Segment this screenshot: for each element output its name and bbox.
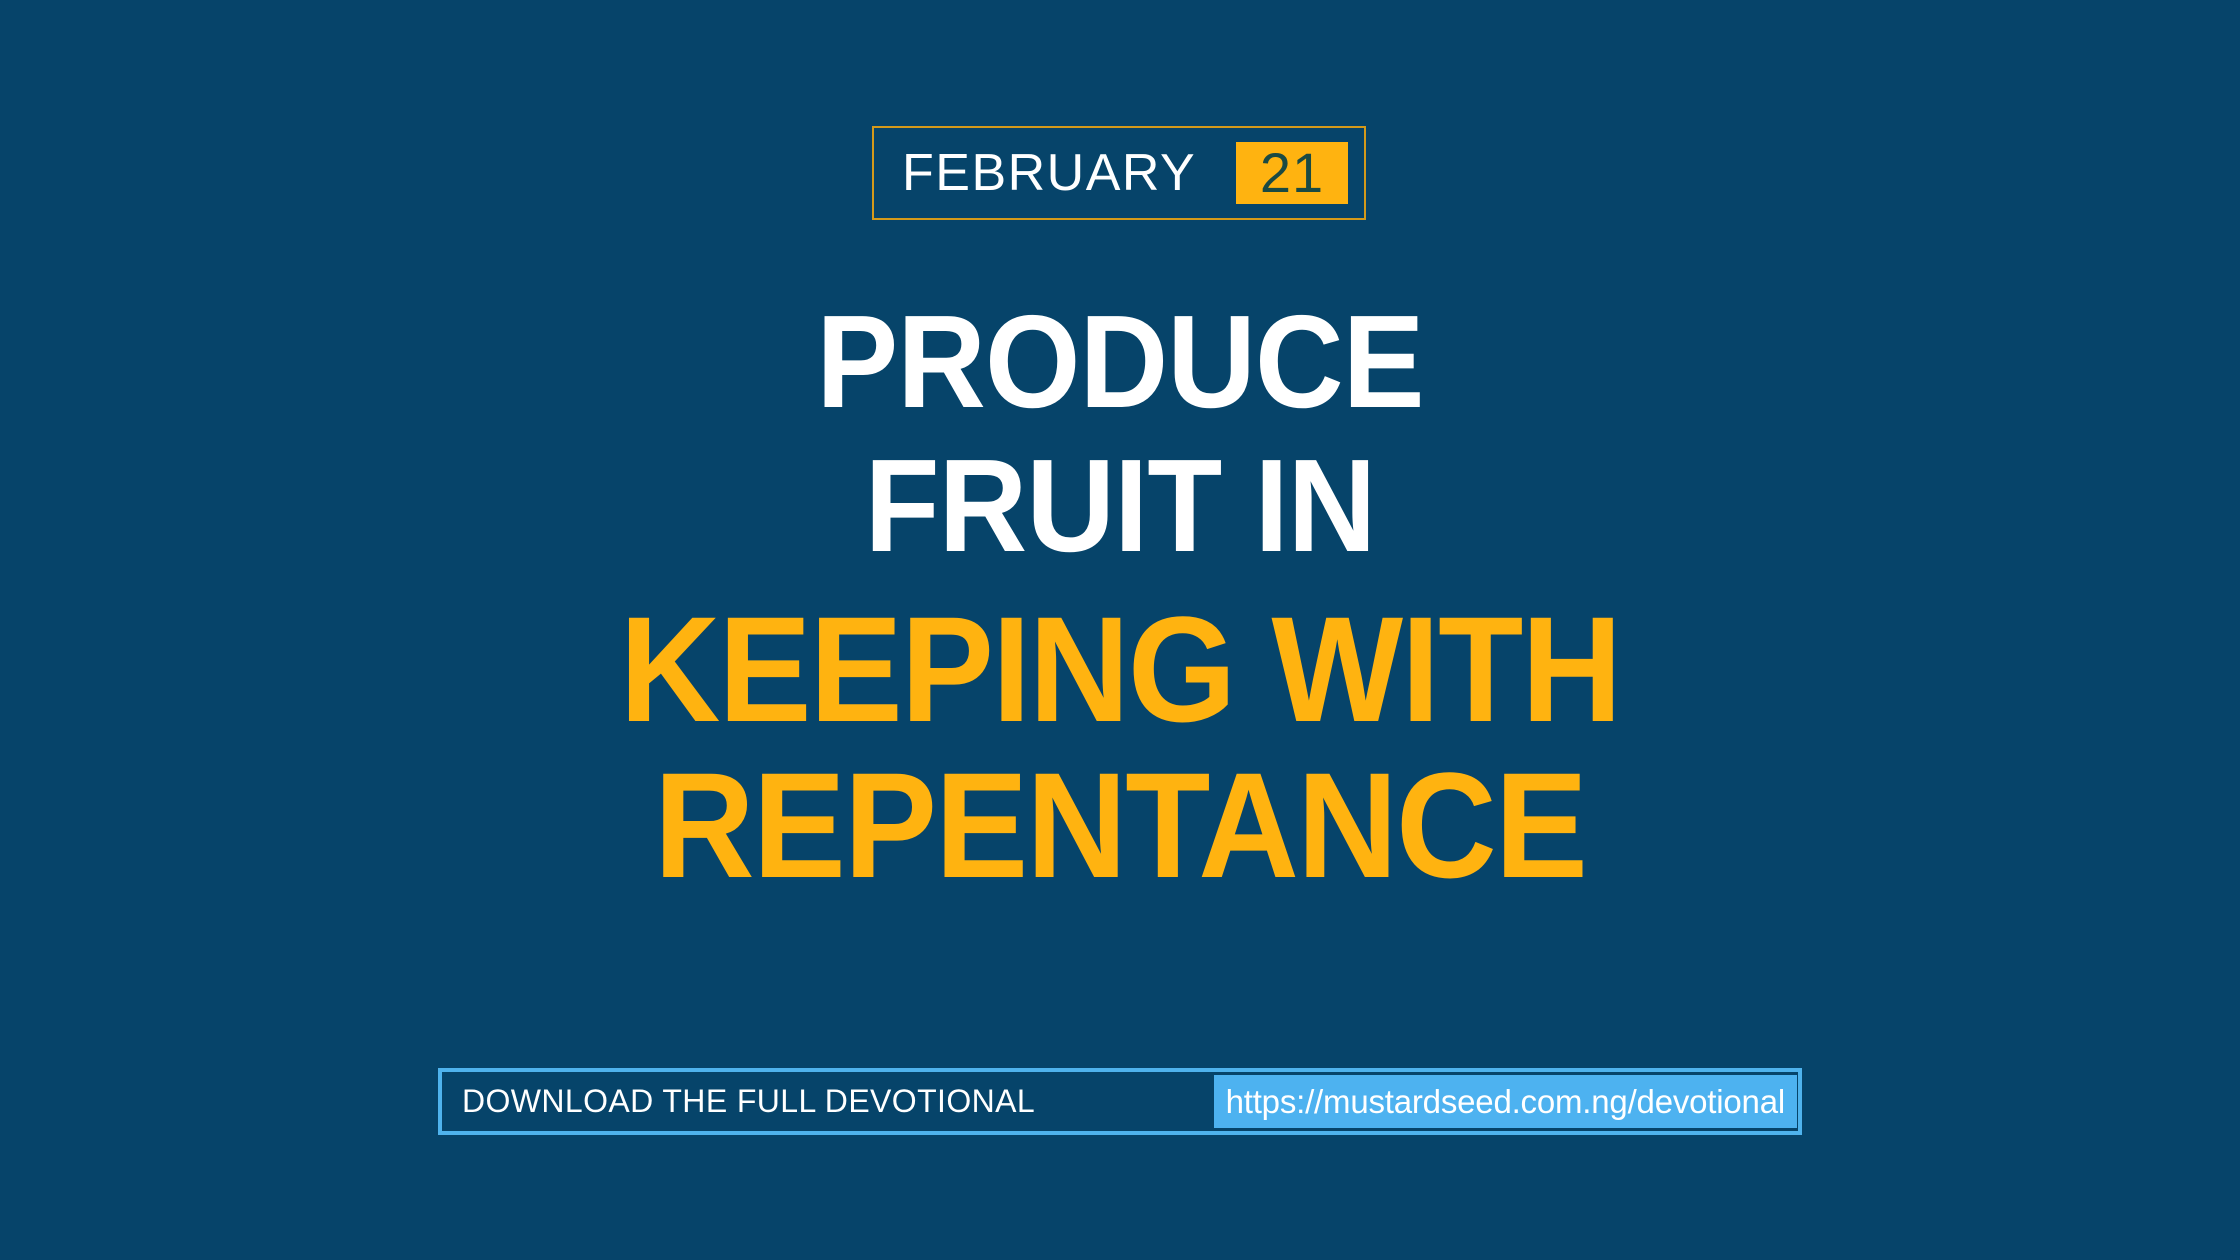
- cta-label: DOWNLOAD THE FULL DEVOTIONAL: [462, 1083, 1035, 1120]
- date-header: FEBRUARY 21: [872, 126, 1366, 220]
- headline-line-2: FRUIT IN: [78, 440, 2161, 572]
- devotional-slide: FEBRUARY 21 PRODUCE FRUIT IN KEEPING WIT…: [0, 0, 2240, 1260]
- download-cta-banner[interactable]: DOWNLOAD THE FULL DEVOTIONAL https://mus…: [438, 1068, 1802, 1135]
- date-month-label: FEBRUARY: [902, 147, 1196, 199]
- date-day-badge: 21: [1236, 142, 1348, 204]
- cta-url-text: https://mustardseed.com.ng/devotional: [1226, 1083, 1785, 1121]
- headline-block: PRODUCE FRUIT IN KEEPING WITH REPENTANCE: [0, 296, 2240, 900]
- headline-line-3: KEEPING WITH: [78, 594, 2161, 744]
- date-day-label: 21: [1260, 145, 1324, 201]
- cta-url-button[interactable]: https://mustardseed.com.ng/devotional: [1214, 1075, 1797, 1128]
- headline-line-1: PRODUCE: [78, 296, 2161, 428]
- headline-line-4: REPENTANCE: [78, 750, 2161, 900]
